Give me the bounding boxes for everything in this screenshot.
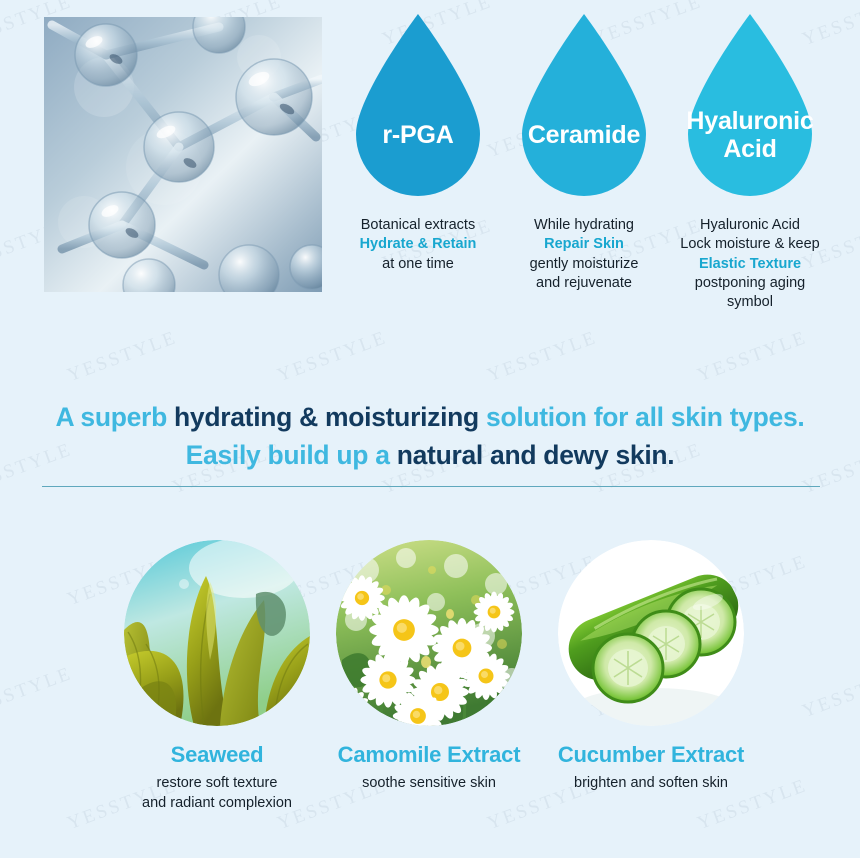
ingredient-column-cucumber: Cucumber Extract brighten and soften ski… xyxy=(535,520,767,794)
watermark-text: YESSTYLE xyxy=(275,327,391,387)
headline-seg-2: hydrating & moisturizing xyxy=(174,402,486,432)
section-divider xyxy=(42,486,820,487)
camomile-image xyxy=(336,540,522,726)
droplet-column-ceramide: Ceramide While hydrating Repair Skin gen… xyxy=(504,10,664,293)
droplet-label-hyaluronic-acid: Hyaluronic Acid xyxy=(684,108,816,163)
bottom-ingredients-section: Seaweed restore soft texture and radiant… xyxy=(0,520,860,858)
headline-line-2: Easily build up a natural and dewy skin. xyxy=(0,436,860,474)
headline-seg-5: natural and dewy skin. xyxy=(397,440,675,470)
headline-seg-1: A superb xyxy=(55,402,174,432)
droplets-row: r-PGA Botanical extracts Hydrate & Retai… xyxy=(336,0,860,310)
watermark-text: YESSTYLE xyxy=(695,327,811,387)
headline-line-1: A superb hydrating & moisturizing soluti… xyxy=(0,398,860,436)
watermark-text: YESSTYLE xyxy=(65,327,181,387)
droplet-shape-hyaluronic-acid: Hyaluronic Acid xyxy=(684,10,816,200)
molecule-image xyxy=(44,17,322,292)
ingredient-desc-seaweed: restore soft texture and radiant complex… xyxy=(101,774,333,813)
ingredient-title-cucumber: Cucumber Extract xyxy=(535,742,767,768)
headline-seg-3: solution for all skin types. xyxy=(486,402,805,432)
droplet-shape-ceramide: Ceramide xyxy=(518,10,650,200)
ingredient-column-camomile: Camomile Extract soothe sensitive skin xyxy=(313,520,545,794)
droplet-caption-r-pga: Botanical extracts Hydrate & Retain at o… xyxy=(338,216,498,274)
droplet-label-r-pga: r-PGA xyxy=(352,122,484,150)
main-headline: A superb hydrating & moisturizing soluti… xyxy=(0,398,860,474)
ingredient-desc-camomile: soothe sensitive skin xyxy=(313,774,545,794)
droplet-column-hyaluronic-acid: Hyaluronic Acid Hyaluronic Acid Lock moi… xyxy=(670,10,830,312)
droplet-shape-r-pga: r-PGA xyxy=(352,10,484,200)
droplet-column-r-pga: r-PGA Botanical extracts Hydrate & Retai… xyxy=(338,10,498,274)
droplet-label-ceramide: Ceramide xyxy=(518,122,650,150)
ingredient-column-seaweed: Seaweed restore soft texture and radiant… xyxy=(101,520,333,813)
ingredient-title-camomile: Camomile Extract xyxy=(313,742,545,768)
headline-seg-4: Easily build up a xyxy=(186,440,397,470)
seaweed-image xyxy=(124,540,310,726)
ingredient-desc-cucumber: brighten and soften skin xyxy=(535,774,767,794)
droplet-caption-ceramide: While hydrating Repair Skin gently moist… xyxy=(504,216,664,293)
watermark-text: YESSTYLE xyxy=(485,327,601,387)
cucumber-image xyxy=(558,540,744,726)
droplet-caption-hyaluronic-acid: Hyaluronic Acid Lock moisture & keep Ela… xyxy=(670,216,830,312)
top-ingredients-section: r-PGA Botanical extracts Hydrate & Retai… xyxy=(0,0,860,320)
ingredient-title-seaweed: Seaweed xyxy=(101,742,333,768)
